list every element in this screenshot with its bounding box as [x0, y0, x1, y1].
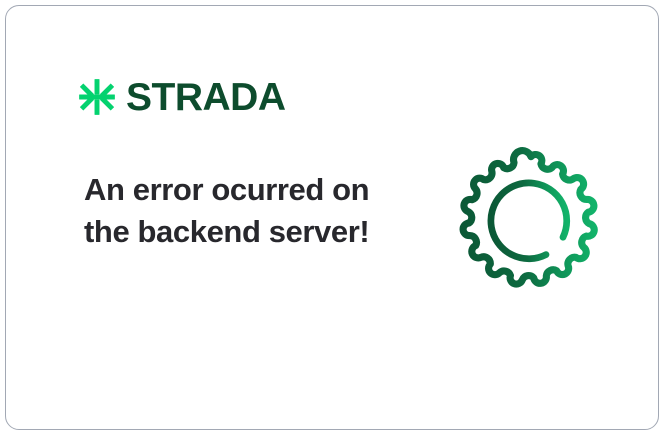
gear-cog-icon: [452, 146, 610, 304]
screen: STRADA An error ocurred on the backend s…: [0, 0, 666, 436]
brand-lockup: STRADA: [78, 74, 286, 120]
brand-name: STRADA: [126, 78, 286, 117]
error-card: STRADA An error ocurred on the backend s…: [5, 5, 659, 430]
strada-asterisk-icon: [78, 78, 116, 116]
error-message: An error ocurred on the backend server!: [84, 169, 384, 253]
